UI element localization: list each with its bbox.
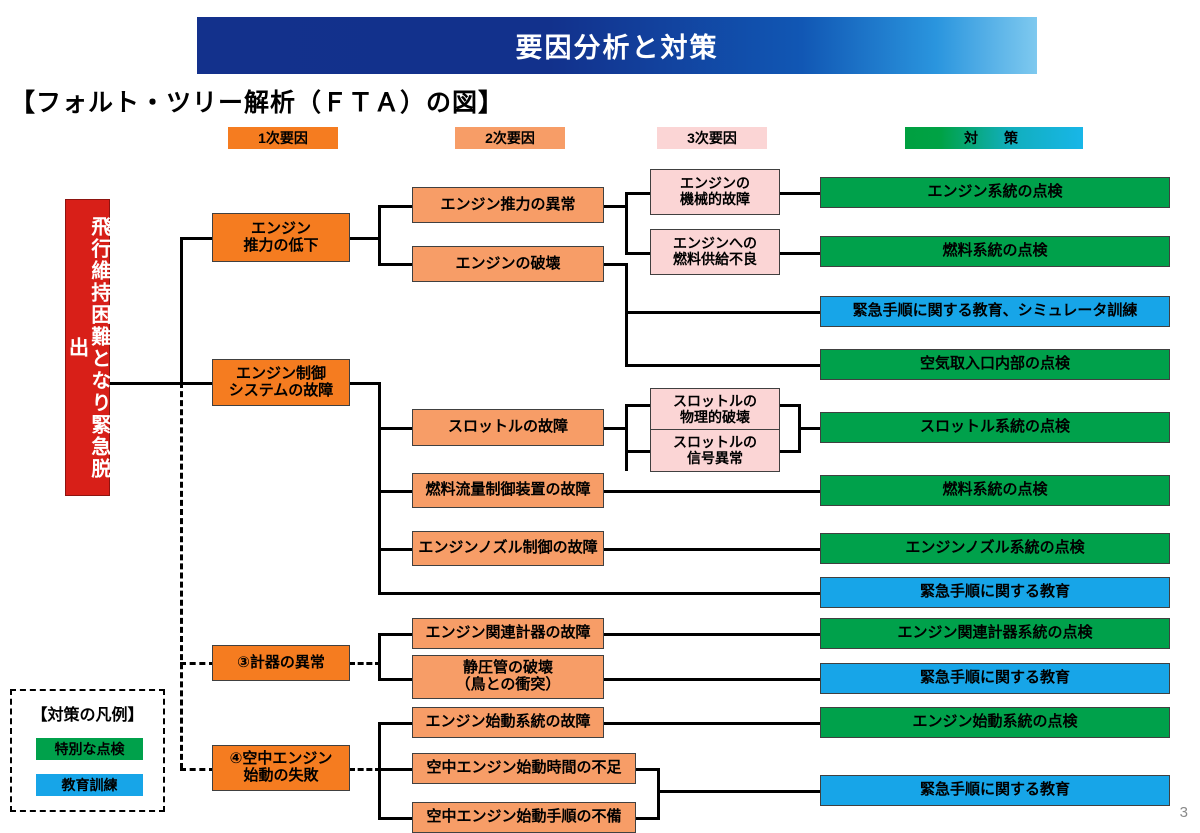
legend-title: 【対策の凡例】: [12, 701, 163, 725]
lv2-node-static-port-destruction[interactable]: 静圧管の破壊 （鳥との衝突）: [412, 655, 604, 699]
action-node-engine-system-inspection[interactable]: エンジン系統の点検: [820, 177, 1170, 208]
lv2-node-engine-instrument-failure[interactable]: エンジン関連計器の故障: [412, 618, 604, 649]
slide-title-bar: 要因分析と対策: [197, 17, 1037, 74]
legend-item-special-inspection: 特別な点検: [36, 738, 143, 760]
connector-lv1-1-bus: [378, 205, 381, 265]
connector-lv1-2-to-lv2-5: [378, 548, 414, 551]
action-node-engine-start-system-inspection[interactable]: エンジン始動系統の点検: [820, 707, 1170, 738]
lv1-node-instrument-anomaly[interactable]: ③計器の異常: [212, 645, 350, 681]
lv2-node-fuel-flow-control-failure[interactable]: 燃料流量制御装置の故障: [412, 473, 604, 508]
lv3-node-engine-mechanical-failure[interactable]: エンジンの 機械的故障: [650, 169, 780, 215]
action-node-emergency-training-1[interactable]: 緊急手順に関する教育: [820, 577, 1170, 608]
connector-lv1-3-out: [349, 662, 381, 665]
slide-subtitle: 【フォルト・ツリー解析（ＦＴＡ）の図】: [10, 83, 504, 119]
connector-lv3-2-to-action-2: [778, 252, 822, 255]
connector-root-to-lv1-2: [180, 382, 215, 385]
action-node-emergency-training-3[interactable]: 緊急手順に関する教育: [820, 775, 1170, 806]
lv3-node-throttle-signal-anomaly[interactable]: スロットルの 信号異常: [650, 429, 780, 472]
lv1-node-airstart-failure[interactable]: ④空中エンジン 始動の失敗: [212, 745, 350, 791]
legend-item-training: 教育訓練: [36, 774, 143, 796]
page-number: 3: [1180, 804, 1188, 821]
connector-lv2-2-to-action-4: [625, 364, 822, 367]
action-node-air-intake-inspection[interactable]: 空気取入口内部の点検: [820, 349, 1170, 380]
connector-lv2-1-to-lv3-1: [625, 192, 652, 195]
connector-lv2-2-bus: [625, 263, 628, 366]
connector-lv1-2-out: [349, 382, 381, 385]
connector-lv2-1-bus: [625, 192, 628, 255]
slide-title: 要因分析と対策: [516, 26, 719, 65]
trunk-line-root: [110, 382, 182, 385]
connector-lv2-6-to-action-9: [602, 633, 822, 636]
action-node-emergency-training-simulator[interactable]: 緊急手順に関する教育、シミュレータ訓練: [820, 296, 1170, 327]
connector-lv1-4-to-lv2-9: [378, 768, 414, 771]
lv1-node-engine-thrust-drop[interactable]: エンジン 推力の低下: [212, 213, 350, 262]
connector-lv2-2-to-action-3: [625, 311, 822, 314]
lv3-node-fuel-supply-failure[interactable]: エンジンへの 燃料供給不良: [650, 229, 780, 275]
connector-lv1-2-to-lv2-4: [378, 490, 414, 493]
action-node-fuel-system-inspection-2[interactable]: 燃料系統の点検: [820, 475, 1170, 506]
legend-box: 【対策の凡例】 特別な点検 教育訓練: [10, 689, 165, 812]
connector-lv1-1-to-lv2-1: [378, 205, 414, 208]
connector-lv1-1-to-lv2-2: [378, 263, 414, 266]
connector-lv1-1-out: [349, 237, 381, 240]
connector-lv2-5-to-action-7: [602, 548, 822, 551]
connector-root-to-lv1-4: [180, 768, 215, 771]
lv2-node-airstart-time-shortage[interactable]: 空中エンジン始動時間の不足: [412, 753, 636, 784]
connector-lv1-4-to-lv2-8: [378, 722, 414, 725]
connector-lv2-9-10-merge-bus: [657, 768, 660, 820]
connector-lv1-4-bus: [378, 722, 381, 820]
connector-lv2-7-to-action-10: [602, 678, 822, 681]
action-node-nozzle-system-inspection[interactable]: エンジンノズル系統の点検: [820, 533, 1170, 564]
trunk-line-upper: [180, 237, 183, 385]
slide-canvas: 要因分析と対策 【フォルト・ツリー解析（ＦＴＡ）の図】 1次要因 2次要因 3次…: [0, 0, 1200, 825]
connector-lv1-2-bus: [378, 382, 381, 594]
action-node-fuel-system-inspection-1[interactable]: 燃料系統の点検: [820, 236, 1170, 267]
connector-lv1-2-to-lv2-3: [378, 427, 414, 430]
connector-lv1-3-bus: [378, 633, 381, 681]
lv2-node-nozzle-control-failure[interactable]: エンジンノズル制御の故障: [412, 531, 604, 566]
lv2-node-thrust-anomaly[interactable]: エンジン推力の異常: [412, 187, 604, 223]
connector-lv2-1-to-lv3-2: [625, 252, 652, 255]
lv2-node-engine-destruction[interactable]: エンジンの破壊: [412, 246, 604, 282]
column-header-tertiary-cause: 3次要因: [657, 127, 767, 149]
connector-lv2-3-to-lv3-4: [625, 450, 652, 453]
connector-lv2-3-to-lv3-3: [625, 404, 652, 407]
connector-lv1-2-to-action-8: [378, 592, 820, 595]
connector-lv1-3-to-lv2-7: [378, 678, 414, 681]
lv1-node-engine-control-system-failure[interactable]: エンジン制御 システムの故障: [212, 359, 350, 406]
connector-lv1-4-to-lv2-10: [378, 817, 414, 820]
action-node-engine-instrument-system-inspection[interactable]: エンジン関連計器系統の点検: [820, 618, 1170, 649]
action-node-throttle-system-inspection[interactable]: スロットル系統の点検: [820, 412, 1170, 443]
action-node-emergency-training-2[interactable]: 緊急手順に関する教育: [820, 663, 1170, 694]
column-header-primary-cause: 1次要因: [228, 127, 338, 149]
connector-lv3-1-to-action-1: [778, 192, 822, 195]
connector-lv2-3-bus: [625, 404, 628, 471]
lv3-node-throttle-physical-break[interactable]: スロットルの 物理的破壊: [650, 388, 780, 431]
connector-root-to-lv1-3: [180, 662, 215, 665]
connector-lv1-3-to-lv2-6: [378, 633, 414, 636]
lv2-node-engine-start-system-failure[interactable]: エンジン始動系統の故障: [412, 707, 604, 738]
connector-merge-to-action-5: [798, 427, 822, 430]
connector-root-to-lv1-1: [180, 237, 215, 240]
column-header-secondary-cause: 2次要因: [455, 127, 565, 149]
trunk-line-lower-dashed: [180, 382, 183, 769]
connector-merge-to-action-12: [657, 790, 822, 793]
connector-lv2-4-to-action-6: [602, 490, 822, 493]
lv2-node-airstart-procedure-deficiency[interactable]: 空中エンジン始動手順の不備: [412, 802, 636, 833]
connector-lv1-4-out: [349, 768, 381, 771]
root-node: 飛行維持困難となり緊急脱出: [65, 199, 110, 496]
lv2-node-throttle-failure[interactable]: スロットルの故障: [412, 409, 604, 446]
column-header-countermeasure: 対 策: [905, 127, 1083, 149]
connector-lv2-8-to-action-11: [602, 722, 822, 725]
